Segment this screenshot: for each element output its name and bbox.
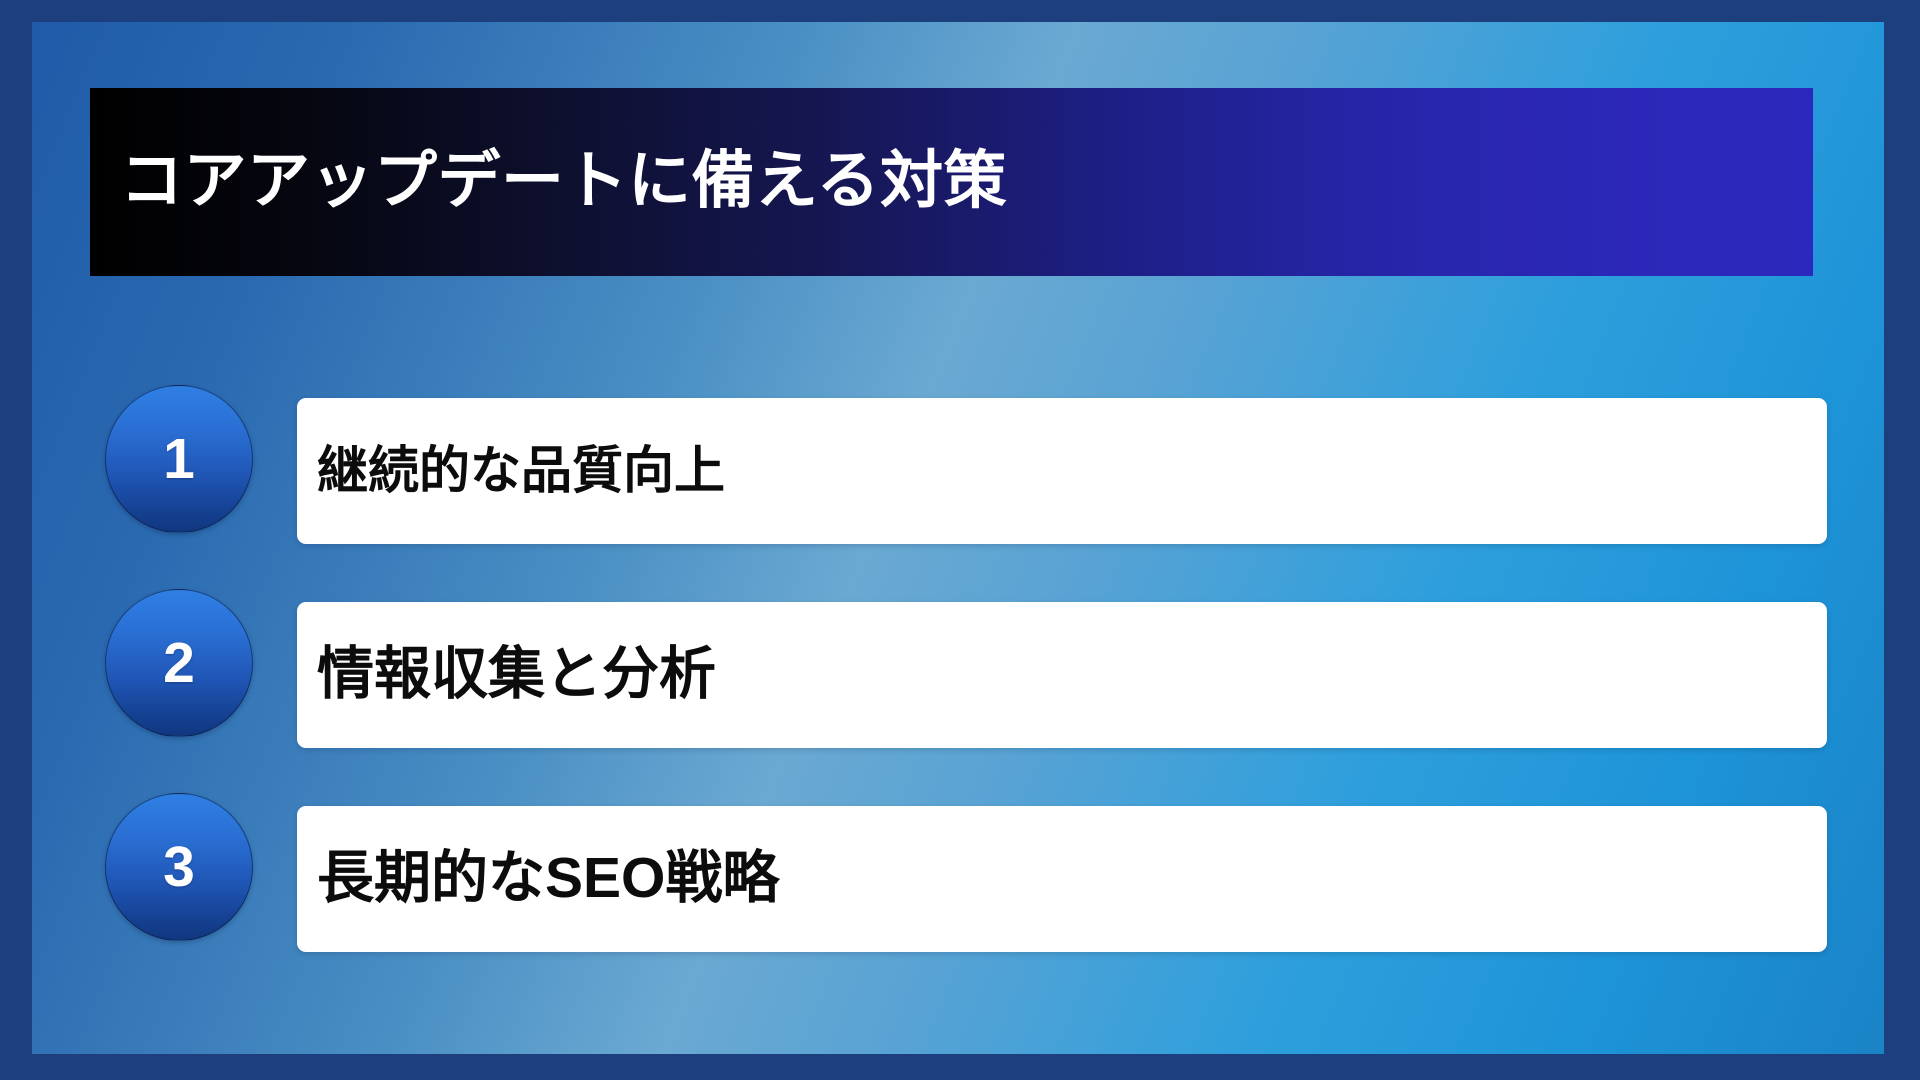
title-banner: コアアップデートに備える対策 (90, 88, 1813, 276)
step-label: 長期的なSEO戦略 (317, 846, 779, 912)
step-card-1: 継続的な品質向上 (297, 398, 1827, 544)
list-item: 2 情報収集と分析 (32, 583, 1884, 751)
step-badge-1: 1 (105, 385, 253, 533)
list-item: 1 継続的な品質向上 (32, 379, 1884, 547)
step-label: 情報収集と分析 (317, 642, 716, 708)
step-badge-3: 3 (105, 793, 253, 941)
step-number-label: 1 (163, 431, 195, 488)
step-card-3: 長期的なSEO戦略 (297, 806, 1827, 952)
step-label: 継続的な品質向上 (317, 442, 725, 501)
step-number-label: 3 (163, 839, 195, 896)
step-badge-2: 2 (105, 589, 253, 737)
steps-list: 1 継続的な品質向上 2 情報収集と分析 3 長期的なSEO (32, 379, 1884, 955)
step-number-label: 2 (163, 635, 195, 692)
page-title: コアアップデートに備える対策 (120, 147, 1007, 216)
list-item: 3 長期的なSEO戦略 (32, 787, 1884, 955)
slide-frame: コアアップデートに備える対策 1 継続的な品質向上 2 情報収集と分析 (0, 0, 1920, 1080)
slide-canvas: コアアップデートに備える対策 1 継続的な品質向上 2 情報収集と分析 (32, 22, 1884, 1054)
step-card-2: 情報収集と分析 (297, 602, 1827, 748)
